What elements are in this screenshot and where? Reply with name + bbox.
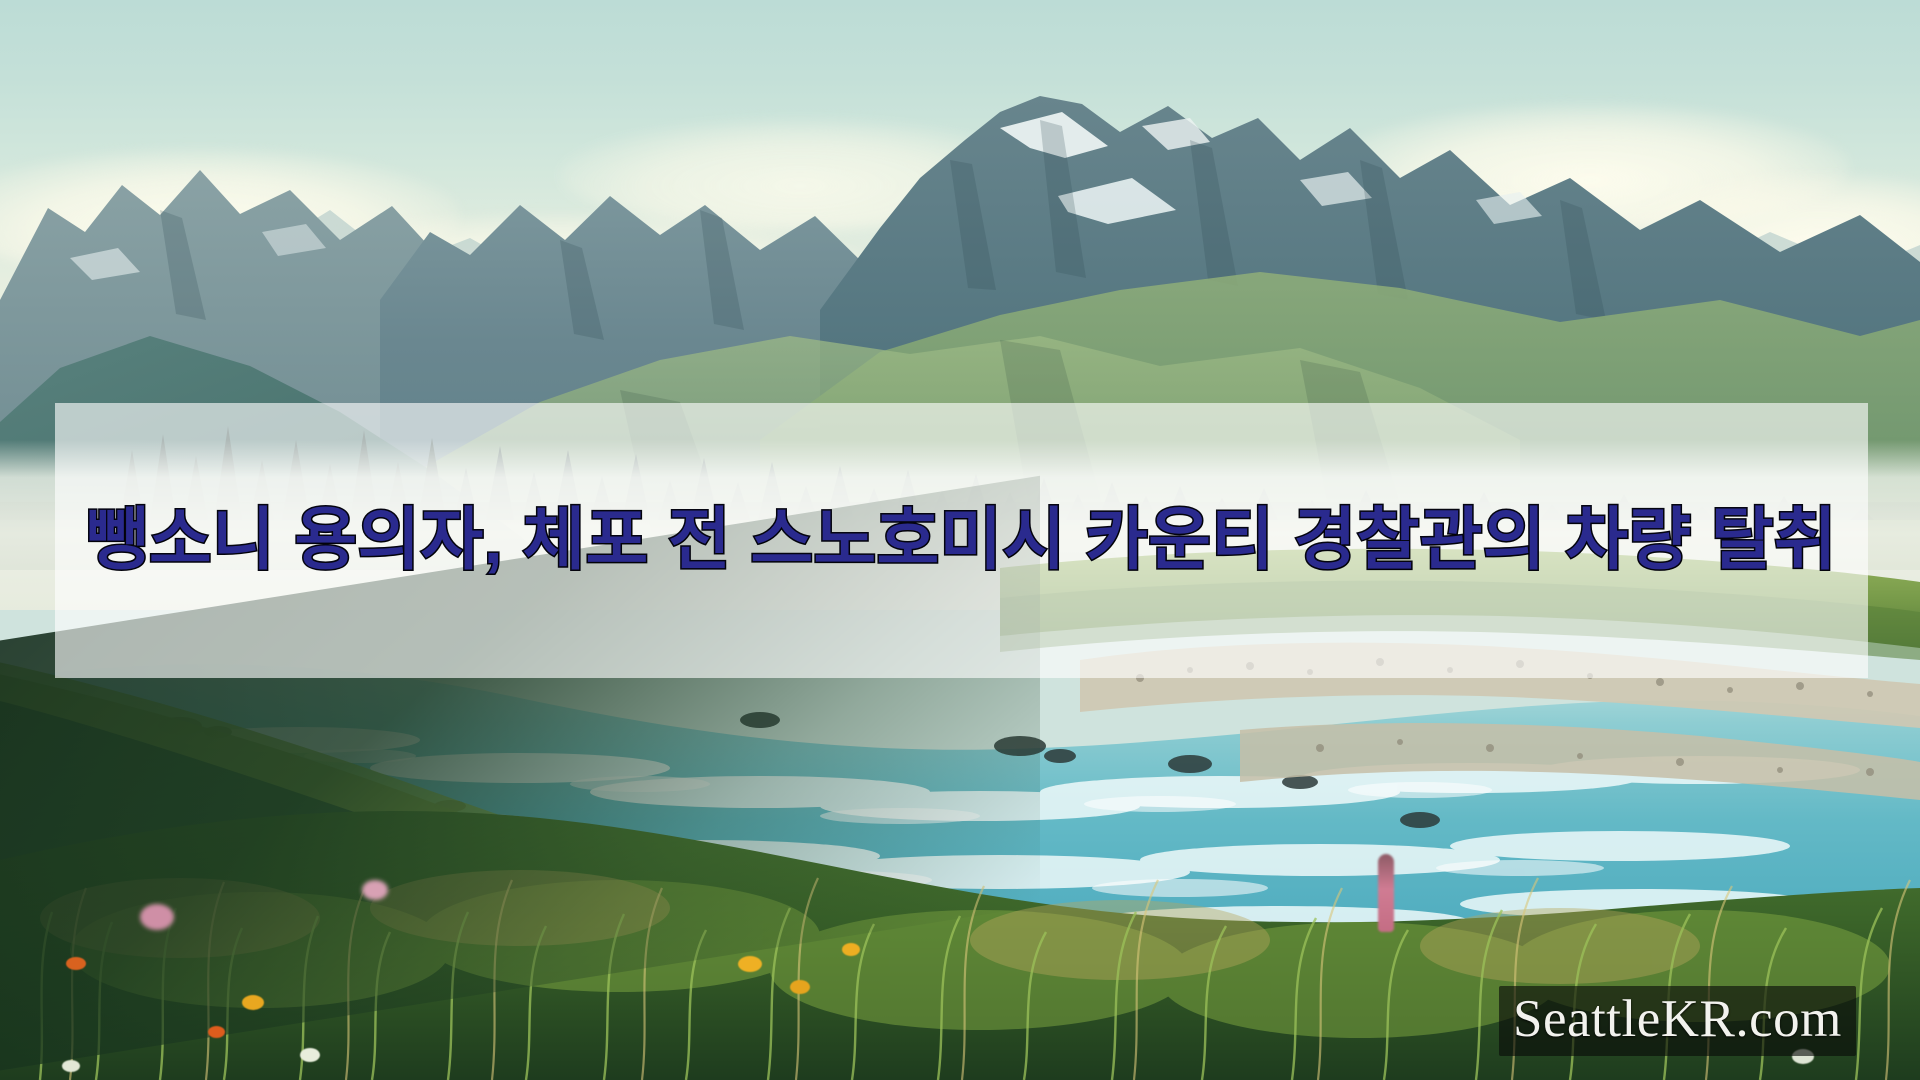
watermark: SeattleKR.com <box>1499 986 1856 1056</box>
flower-orange <box>66 957 86 970</box>
flower-pink <box>362 880 388 900</box>
flower-yellow <box>842 943 860 956</box>
page-title: 뺑소니 용의자, 체포 전 스노호미시 카운티 경찰관의 차량 탈취 <box>73 496 1850 586</box>
headline-overlay-box: 뺑소니 용의자, 체포 전 스노호미시 카운티 경찰관의 차량 탈취 <box>55 403 1868 678</box>
flower-orange <box>208 1026 225 1038</box>
watermark-label: SeattleKR.com <box>1513 990 1842 1048</box>
flower-white <box>300 1048 320 1062</box>
flower-yellow <box>738 956 762 972</box>
flower-pink-fireweed <box>1378 854 1394 932</box>
flower-pink <box>140 904 174 930</box>
flower-yellow <box>242 995 264 1010</box>
flower-yellow <box>790 980 810 994</box>
news-hero-image: 뺑소니 용의자, 체포 전 스노호미시 카운티 경찰관의 차량 탈취 Seatt… <box>0 0 1920 1080</box>
flower-white <box>62 1060 80 1072</box>
